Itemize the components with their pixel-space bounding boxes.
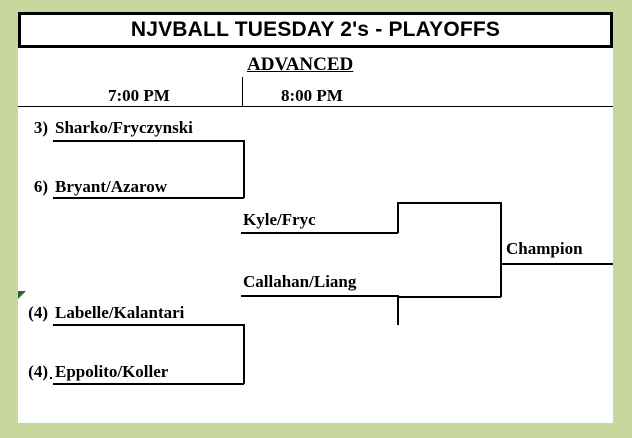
page-title: NJVBALL TUESDAY 2's - PLAYOFFS: [131, 18, 500, 42]
seed-sharko: 3): [20, 118, 48, 138]
connector-round1-lower: [243, 324, 245, 384]
connector-final-arm-top: [397, 202, 501, 204]
team-bryant-azarow: Bryant/Azarow: [55, 177, 167, 197]
round-column-divider: [242, 77, 243, 107]
round-2-time-label: 8:00 PM: [281, 86, 343, 106]
underline-bryant: [53, 197, 244, 199]
underline-labelle: [53, 324, 244, 326]
underline-eppolito: [53, 383, 244, 385]
underline-callahan-liang: [241, 295, 398, 297]
connector-round1-upper: [243, 140, 245, 198]
seed-eppolito: (4): [14, 362, 48, 382]
round-1-time-label: 7:00 PM: [108, 86, 170, 106]
team-eppolito-koller: Eppolito/Koller: [55, 362, 168, 382]
connector-final: [500, 202, 502, 297]
underline-champion: [501, 263, 613, 265]
team-kyle-fryc: Kyle/Fryc: [243, 210, 316, 230]
header-rule: [18, 106, 613, 107]
title-box: NJVBALL TUESDAY 2's - PLAYOFFS: [18, 12, 613, 48]
comment-marker-icon: [18, 291, 26, 299]
seed-labelle: (4): [14, 303, 48, 323]
connector-round2-stub-top: [397, 202, 399, 233]
team-sharko-fryczynski: Sharko/Fryczynski: [55, 118, 193, 138]
underline-sharko: [53, 140, 244, 142]
seed-bryant: 6): [20, 177, 48, 197]
connector-round2-stub-bottom: [397, 295, 399, 325]
underline-kyle-fryc: [241, 232, 398, 234]
team-callahan-liang: Callahan/Liang: [243, 272, 356, 292]
champion-label: Champion: [506, 239, 583, 259]
division-heading: ADVANCED: [247, 54, 353, 76]
connector-final-arm-bottom: [397, 296, 501, 298]
team-labelle-kalantari: Labelle/Kalantari: [55, 303, 184, 323]
bracket-page: NJVBALL TUESDAY 2's - PLAYOFFS ADVANCED …: [0, 0, 632, 438]
stray-dot-mark: [50, 377, 52, 379]
